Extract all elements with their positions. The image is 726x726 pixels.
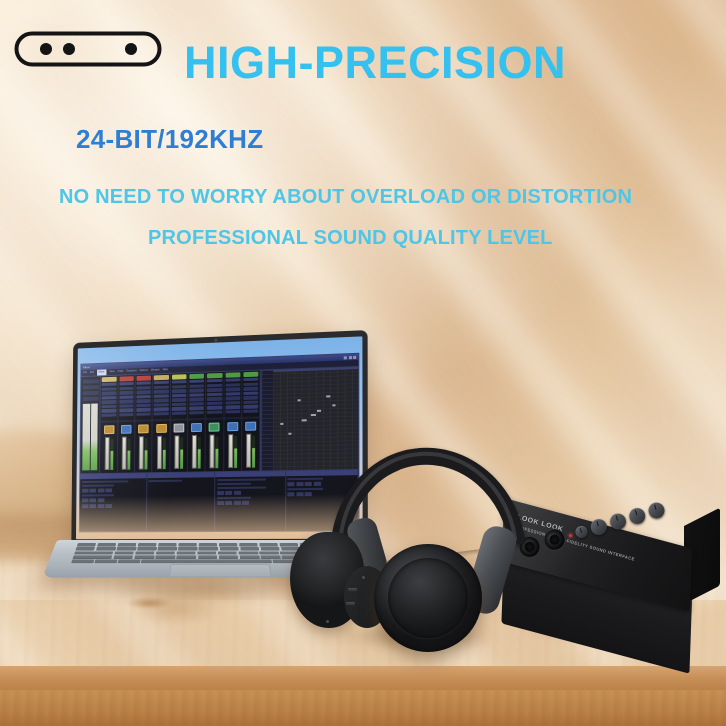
channel-instrument-icon[interactable]: [121, 424, 131, 433]
channel-level-meter: [234, 436, 237, 468]
phones-level-knob[interactable]: [627, 506, 647, 526]
channel-fader[interactable]: [210, 435, 215, 469]
channel-level-meter: [110, 439, 113, 470]
channel-send-rows[interactable]: [118, 381, 135, 419]
panel-effects-routing[interactable]: [215, 471, 286, 531]
channel-fader-area[interactable]: [152, 433, 169, 472]
channel-divider: [153, 419, 170, 421]
gain-2-knob[interactable]: [589, 517, 609, 537]
channel-send-rows[interactable]: [206, 378, 223, 417]
channel-instrument-icon[interactable]: [138, 424, 149, 433]
desk-front: [0, 690, 726, 726]
channel-level-meter: [180, 437, 183, 469]
channel-instrument-icon[interactable]: [104, 425, 114, 434]
menu-item-active[interactable]: Mixer: [97, 369, 107, 375]
channel-strip[interactable]: [135, 374, 153, 472]
spec-subtitle: 24-BIT/192KHZ: [76, 124, 263, 155]
monitor-mix-knob[interactable]: [608, 512, 628, 532]
channel-level-meter: [145, 438, 148, 470]
channel-fader[interactable]: [228, 434, 233, 468]
page-title: HIGH-PRECISION: [184, 40, 566, 85]
desk-edge: [0, 666, 726, 692]
channel-level-meter: [162, 438, 165, 470]
menu-item-file[interactable]: File: [83, 370, 87, 376]
audio-interface-outline-icon: [14, 31, 162, 67]
channel-fader-area[interactable]: [100, 435, 117, 474]
peak-indicator-led: [569, 533, 573, 537]
menu-item-track[interactable]: Track: [117, 369, 123, 375]
channel-strip[interactable]: [170, 373, 188, 472]
channel-fader[interactable]: [246, 434, 251, 468]
headphone-jack-port: [326, 620, 329, 623]
channel-level-meter: [127, 438, 130, 469]
channel-fader[interactable]: [174, 435, 179, 469]
channel-send-rows[interactable]: [101, 382, 118, 420]
channel-fader-area[interactable]: [188, 432, 205, 471]
menu-item-edit[interactable]: Edit: [90, 370, 94, 376]
channel-fader[interactable]: [192, 435, 197, 469]
channel-divider: [224, 417, 241, 419]
channel-send-rows[interactable]: [135, 380, 152, 418]
channel-strip[interactable]: [188, 373, 206, 472]
channel-fader[interactable]: [122, 437, 127, 470]
channel-send-rows[interactable]: [224, 377, 241, 416]
channel-fader[interactable]: [139, 436, 144, 469]
laptop-trackpad[interactable]: [169, 564, 272, 577]
headphone-power-button[interactable]: [346, 602, 355, 605]
menu-item-view[interactable]: View: [109, 369, 114, 375]
menu-item-options[interactable]: Options: [139, 368, 148, 374]
channel-fader-area[interactable]: [206, 432, 223, 472]
tagline-line-1: NO NEED TO WORRY ABOUT OVERLOAD OR DISTO…: [59, 186, 632, 209]
product-banner: HIGH-PRECISION 24-BIT/192KHZ NO NEED TO …: [0, 0, 726, 726]
channel-divider: [206, 417, 223, 419]
mixer-console[interactable]: [80, 371, 261, 474]
channel-fader[interactable]: [156, 436, 161, 470]
channel-instrument-icon[interactable]: [227, 422, 238, 431]
channel-instrument-icon[interactable]: [209, 422, 220, 431]
channel-fader-area[interactable]: [170, 433, 187, 472]
channel-fader[interactable]: [104, 437, 109, 470]
channel-strip[interactable]: [152, 374, 170, 473]
channel-instrument-icon[interactable]: [173, 423, 184, 432]
channel-fader-area[interactable]: [135, 434, 152, 473]
channel-fader-area[interactable]: [224, 432, 241, 472]
headphone-volume-button[interactable]: [348, 588, 357, 591]
panel-channel-rack[interactable]: [146, 472, 215, 531]
menu-item-window[interactable]: Window: [151, 367, 160, 373]
channel-strip[interactable]: [242, 371, 261, 471]
channel-divider: [242, 416, 259, 418]
webcam-icon: [214, 339, 217, 342]
channel-send-rows[interactable]: [242, 377, 259, 416]
channel-send-rows[interactable]: [153, 380, 170, 418]
channel-strip[interactable]: [224, 371, 242, 471]
main-volume-knob[interactable]: [647, 501, 667, 521]
channel-divider: [135, 419, 152, 421]
channel-strip[interactable]: [100, 376, 118, 474]
channel-fader-area[interactable]: [242, 431, 259, 471]
channel-instrument-icon[interactable]: [191, 423, 202, 432]
channel-divider: [170, 418, 187, 420]
channel-level-meter: [198, 437, 201, 469]
master-level-meters: [80, 401, 100, 473]
channel-level-meter: [216, 436, 219, 468]
channel-strip[interactable]: [206, 372, 224, 472]
xlr-combo-input-2[interactable]: [541, 526, 568, 553]
grid-ruler: [261, 370, 274, 471]
channel-instrument-icon[interactable]: [245, 421, 256, 430]
over-ear-headphones: [288, 448, 538, 658]
menu-item-transport[interactable]: Transport: [126, 368, 136, 374]
menu-item-help[interactable]: Help: [163, 367, 168, 373]
channel-divider: [101, 420, 117, 422]
headphone-mic-hole: [362, 576, 365, 579]
channel-divider: [188, 418, 205, 420]
channel-strip[interactable]: [118, 375, 136, 473]
channel-divider: [118, 419, 134, 421]
channel-level-meter: [252, 436, 255, 468]
desk-front-grain: [0, 690, 726, 726]
channel-send-rows[interactable]: [170, 379, 187, 417]
window-controls[interactable]: [344, 355, 356, 359]
tagline-line-2: PROFESSIONAL SOUND QUALITY LEVEL: [148, 227, 553, 250]
channel-send-rows[interactable]: [188, 378, 205, 417]
channel-fader-area[interactable]: [118, 434, 135, 473]
master-channel-strip[interactable]: [80, 376, 101, 473]
gain-1-knob[interactable]: [574, 525, 589, 540]
panel-transport-device[interactable]: [80, 473, 147, 531]
headphone-earcup-right-face: [388, 558, 468, 638]
channel-strip-list[interactable]: [100, 371, 260, 474]
channel-instrument-icon[interactable]: [156, 424, 167, 433]
